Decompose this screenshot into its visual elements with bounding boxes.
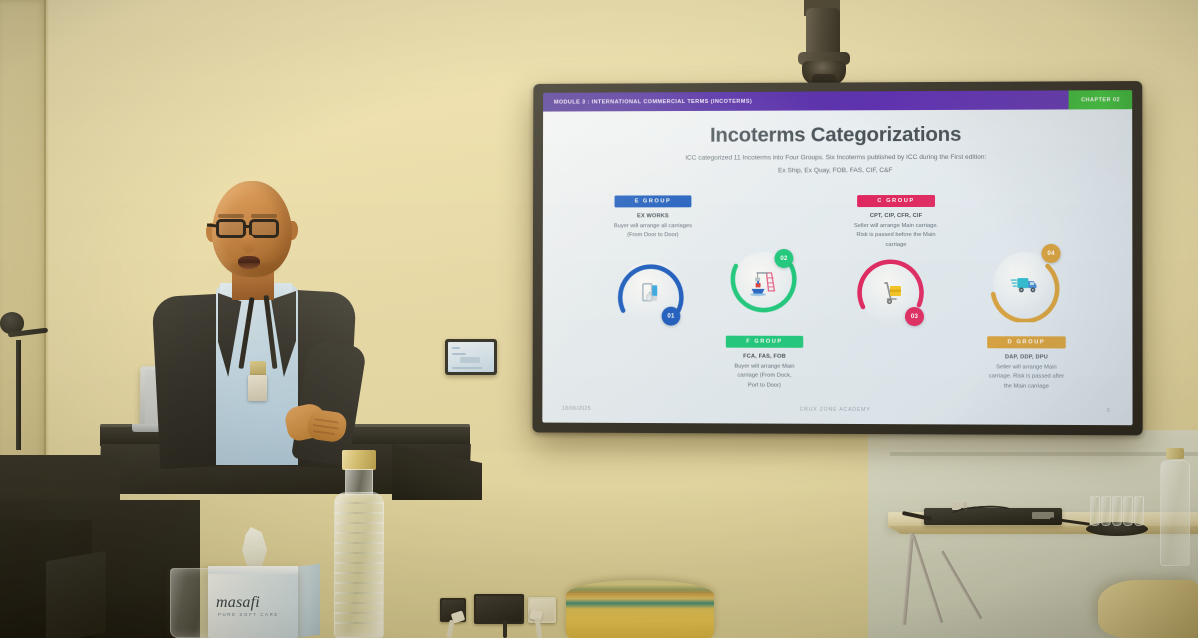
footer-page-number: 5: [1107, 408, 1110, 414]
group-e-desc-2: (From Door to Door): [595, 232, 711, 241]
hand-truck-box-icon: [879, 280, 907, 306]
group-c-number: 03: [905, 307, 924, 326]
wall-left-edge: [44, 0, 49, 470]
snack-tin: [566, 580, 714, 638]
group-d-description: Seller will arrange Main carriage. Risk …: [967, 363, 1086, 392]
presentation-slide: MODULE 3 : INTERNATIONAL COMMERCIAL TERM…: [542, 90, 1132, 425]
presenter: [150, 175, 400, 465]
cable-center: [503, 620, 507, 638]
group-e-number: 01: [662, 307, 681, 326]
bottle-cap: [342, 450, 376, 470]
control-panel-screen: [448, 342, 494, 372]
module-label: MODULE 3 : INTERNATIONAL COMMERCIAL TERM…: [543, 98, 752, 105]
group-d-ring: 04: [987, 246, 1064, 322]
group-d-desc-3: the Main carriage: [967, 382, 1086, 392]
group-e-desc-1: Buyer will arrange all carriages: [595, 222, 711, 231]
wall-seam: [890, 452, 1198, 456]
slide-subtitle: ICC categorized 11 Incoterms into Four G…: [543, 151, 1132, 178]
group-f-ring: 02: [726, 246, 801, 322]
group-c-desc-3: carriage: [833, 241, 959, 250]
delivery-truck-icon: [1010, 273, 1040, 295]
eyeglasses-right-lens: [249, 219, 279, 238]
group-f-desc-3: Port to Door): [706, 381, 823, 391]
chapter-badge: CHAPTER 02: [1069, 90, 1132, 109]
group-d-desc-1: Seller will arrange Main: [967, 363, 1086, 373]
group-c-desc-1: Seller will arrange Main carriage.: [833, 222, 959, 231]
group-d: D GROUP DAP, DDP, DPU Seller will arrang…: [967, 330, 1086, 392]
drinking-glasses: [1090, 496, 1148, 526]
foreground-chair: [1098, 580, 1198, 638]
wall-control-panel[interactable]: [445, 339, 497, 375]
group-f-chip: F GROUP: [726, 336, 803, 348]
classroom-scene: MODULE 3 : INTERNATIONAL COMMERCIAL TERM…: [0, 0, 1198, 638]
group-f-number: 02: [774, 249, 793, 268]
group-f: F GROUP FCA, FAS, FOB Buyer will arrange…: [706, 330, 823, 391]
group-d-terms: DAP, DDP, DPU: [967, 354, 1086, 360]
water-bottle-background: [1158, 448, 1192, 566]
slide-footer: 18/06/2025 CRUX ZONE ACADEMY 5: [542, 404, 1132, 416]
wall-left-panel: [0, 0, 46, 470]
group-f-description: Buyer will arrange Main carriage (From D…: [706, 363, 823, 391]
group-c: C GROUP CPT, CIP, CFR, CIF Seller will a…: [833, 189, 959, 250]
foreground-laptop: [46, 551, 106, 638]
group-c-ring: 03: [855, 255, 931, 331]
slide-header-bar: MODULE 3 : INTERNATIONAL COMMERCIAL TERM…: [543, 90, 1132, 111]
eyeglasses-left-lens: [216, 219, 246, 238]
group-d-desc-2: carriage. Risk is passed after: [967, 373, 1086, 383]
water-bottle-foreground: [330, 450, 388, 638]
slide-title: Incoterms Categorizations: [543, 122, 1132, 148]
tissue-brand-label: masafi: [216, 594, 288, 612]
group-c-desc-2: Risk is passed before the Main: [833, 231, 959, 240]
group-d-chip: D GROUP: [987, 336, 1066, 348]
id-badge: [248, 375, 267, 401]
group-e-terms: EX WORKS: [595, 213, 711, 219]
warehouse-door-icon: [638, 280, 664, 306]
group-f-desc-2: carriage (From Dock,: [706, 372, 823, 382]
tissue-tagline: PURE SOFT CARE: [218, 612, 288, 617]
group-e: E GROUP EX WORKS Buyer will arrange all …: [595, 189, 711, 241]
group-d-number: 04: [1041, 244, 1060, 263]
group-e-description: Buyer will arrange all carriages (From D…: [595, 222, 711, 241]
group-f-desc-1: Buyer will arrange Main: [706, 363, 823, 373]
wall-socket-main[interactable]: [474, 594, 524, 624]
group-f-terms: FCA, FAS, FOB: [706, 354, 823, 360]
group-e-ring: 01: [613, 255, 688, 331]
group-c-description: Seller will arrange Main carriage. Risk …: [833, 222, 959, 250]
port-crane-ship-icon: [748, 269, 780, 299]
footer-organization: CRUX ZONE ACADEMY: [542, 406, 1132, 414]
group-c-chip: C GROUP: [857, 195, 935, 207]
subtitle-line-2: Ex Ship, Ex Quay, FOB, FAS, CIF, C&F: [543, 164, 1132, 178]
group-c-terms: CPT, CIP, CFR, CIF: [833, 213, 959, 219]
group-e-chip: E GROUP: [615, 195, 692, 207]
wall-display: MODULE 3 : INTERNATIONAL COMMERCIAL TERM…: [532, 81, 1142, 435]
